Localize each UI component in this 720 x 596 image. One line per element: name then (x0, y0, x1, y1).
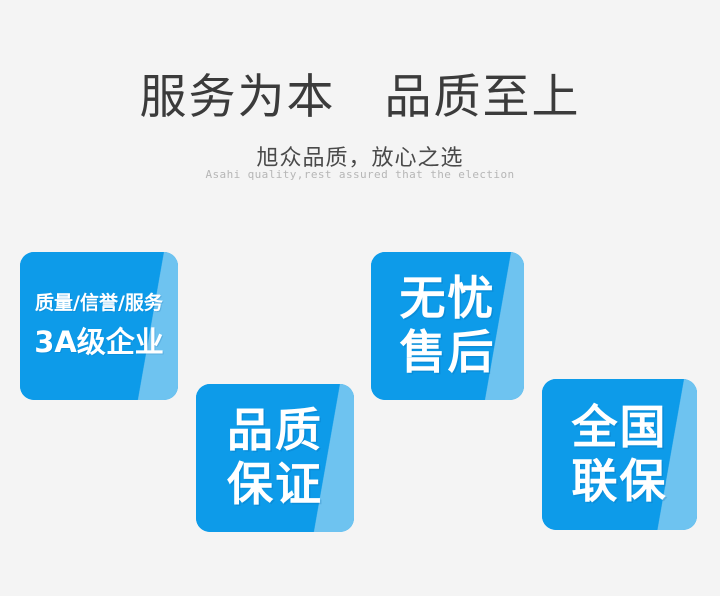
badge-card-quality-guarantee[interactable]: 品质 保证 (196, 384, 354, 532)
card-line-secondary: 售后 (400, 327, 496, 379)
card-line-secondary: 保证 (227, 459, 323, 511)
card-line-secondary: 3A级企业 (34, 325, 164, 360)
badge-card-worry-free-service[interactable]: 无忧 售后 (371, 252, 524, 400)
page-tagline-english: Asahi quality,rest assured that the elec… (0, 168, 720, 181)
card-line-primary: 质量/信誉/服务 (35, 292, 163, 316)
card-line-primary: 品质 (227, 405, 323, 457)
card-content: 无忧 售后 (371, 252, 524, 400)
card-line-primary: 无忧 (400, 273, 496, 325)
badge-card-nationwide-warranty[interactable]: 全国 联保 (542, 379, 697, 530)
page-title: 服务为本 品质至上 (0, 72, 720, 124)
card-content: 质量/信誉/服务 3A级企业 (20, 252, 178, 400)
card-line-primary: 全国 (572, 402, 668, 454)
promo-banner: 服务为本 品质至上 旭众品质，放心之选 Asahi quality,rest a… (0, 0, 720, 596)
card-line-secondary: 联保 (572, 456, 668, 508)
card-content: 品质 保证 (196, 384, 354, 532)
badge-card-3a-enterprise[interactable]: 质量/信誉/服务 3A级企业 (20, 252, 178, 400)
card-content: 全国 联保 (542, 379, 697, 530)
